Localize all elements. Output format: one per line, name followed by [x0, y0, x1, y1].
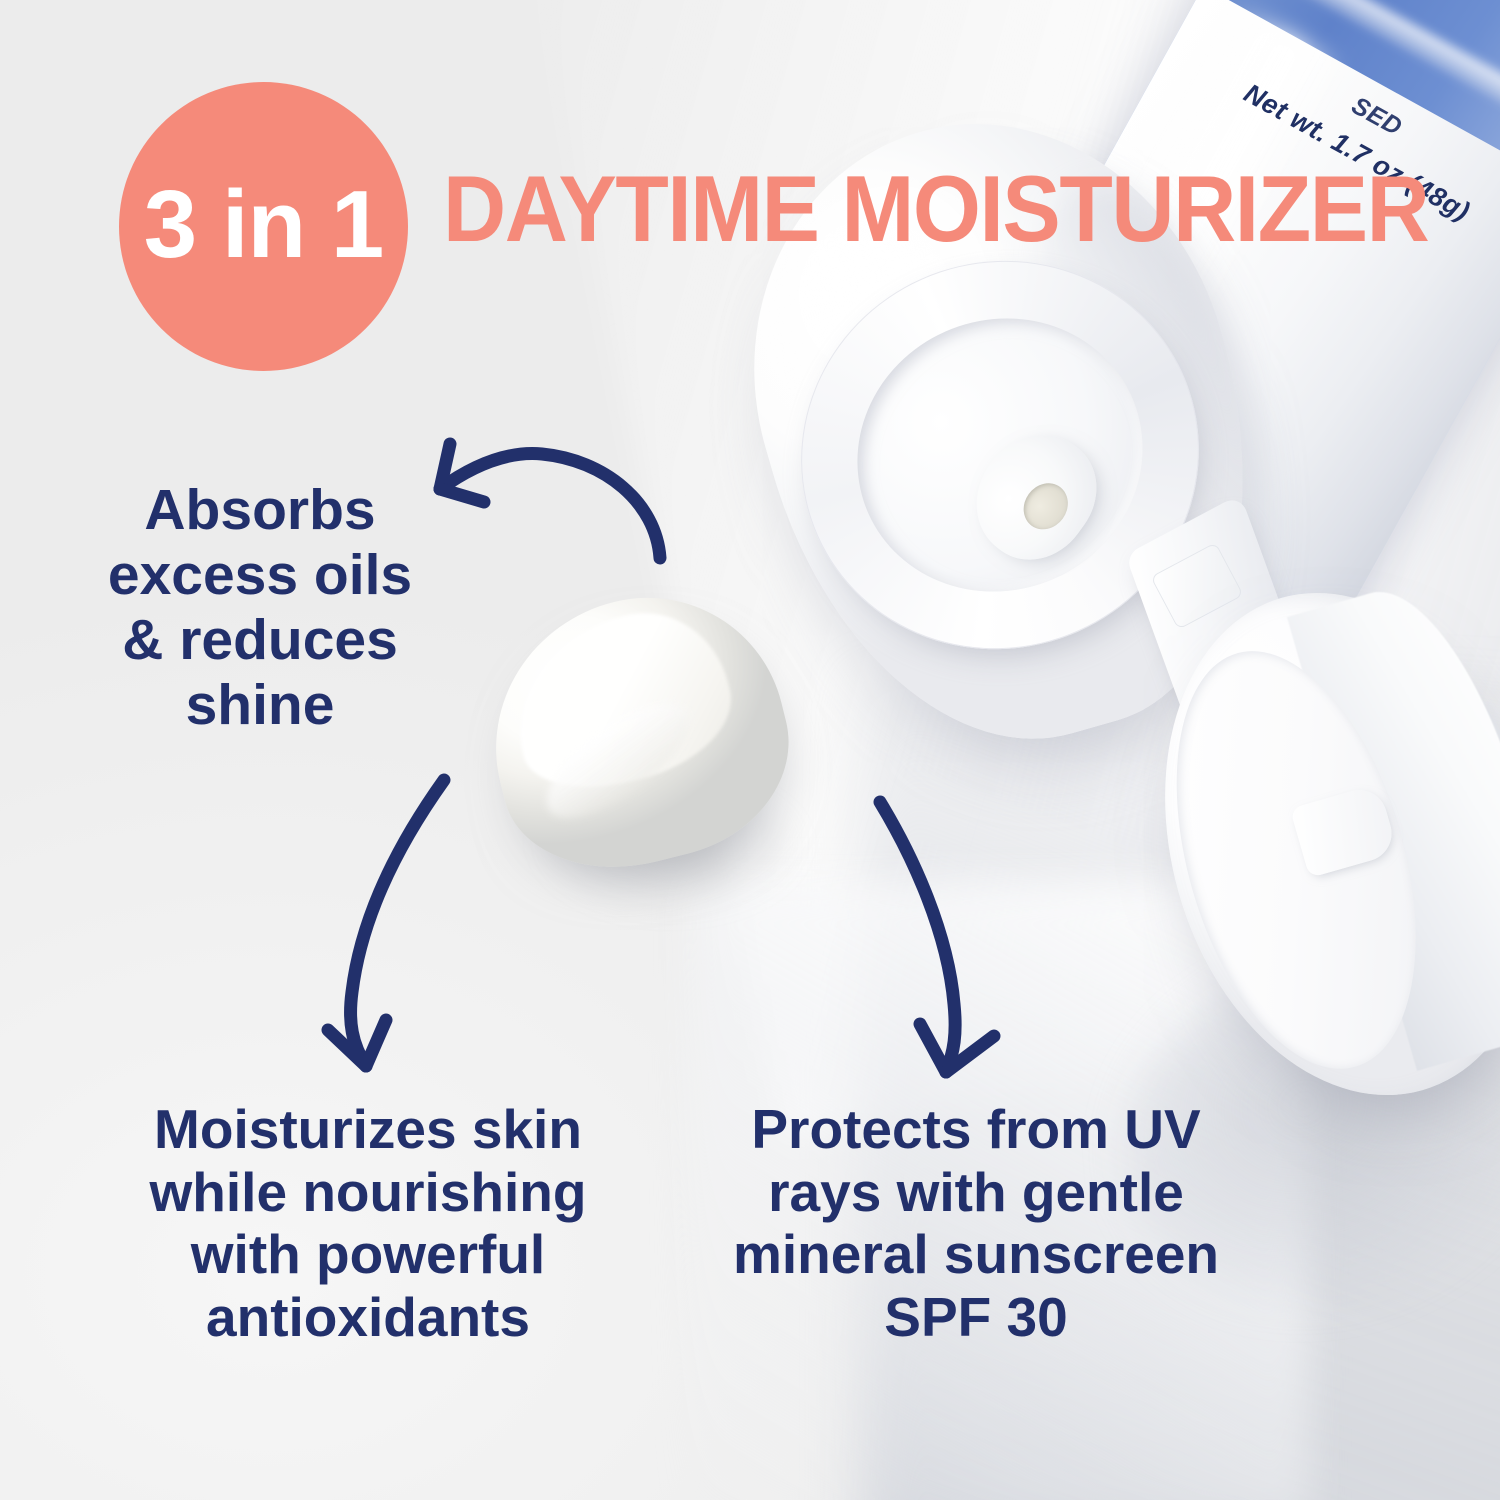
page-title: DAYTIME MOISTURIZER: [443, 162, 1428, 256]
cap-collar-inner: [813, 273, 1186, 637]
feature-absorbs-oils: Absorbs excess oils & reduces shine: [60, 478, 460, 738]
product-infographic: SED Net wt. 1.7 oz (48g): [0, 0, 1500, 1500]
feature-moisturizes-skin: Moisturizes skin while nourishing with p…: [62, 1098, 674, 1349]
nozzle-opening: [1015, 474, 1077, 538]
tube-nozzle: [953, 411, 1119, 580]
arrow-to-protects-icon: [842, 766, 1042, 1096]
arrow-to-moisturizes-icon: [300, 758, 510, 1088]
badge-label: 3 in 1: [144, 177, 383, 273]
three-in-one-badge: 3 in 1: [119, 82, 408, 371]
feature-uv-protection: Protects from UV rays with gentle minera…: [676, 1098, 1276, 1349]
